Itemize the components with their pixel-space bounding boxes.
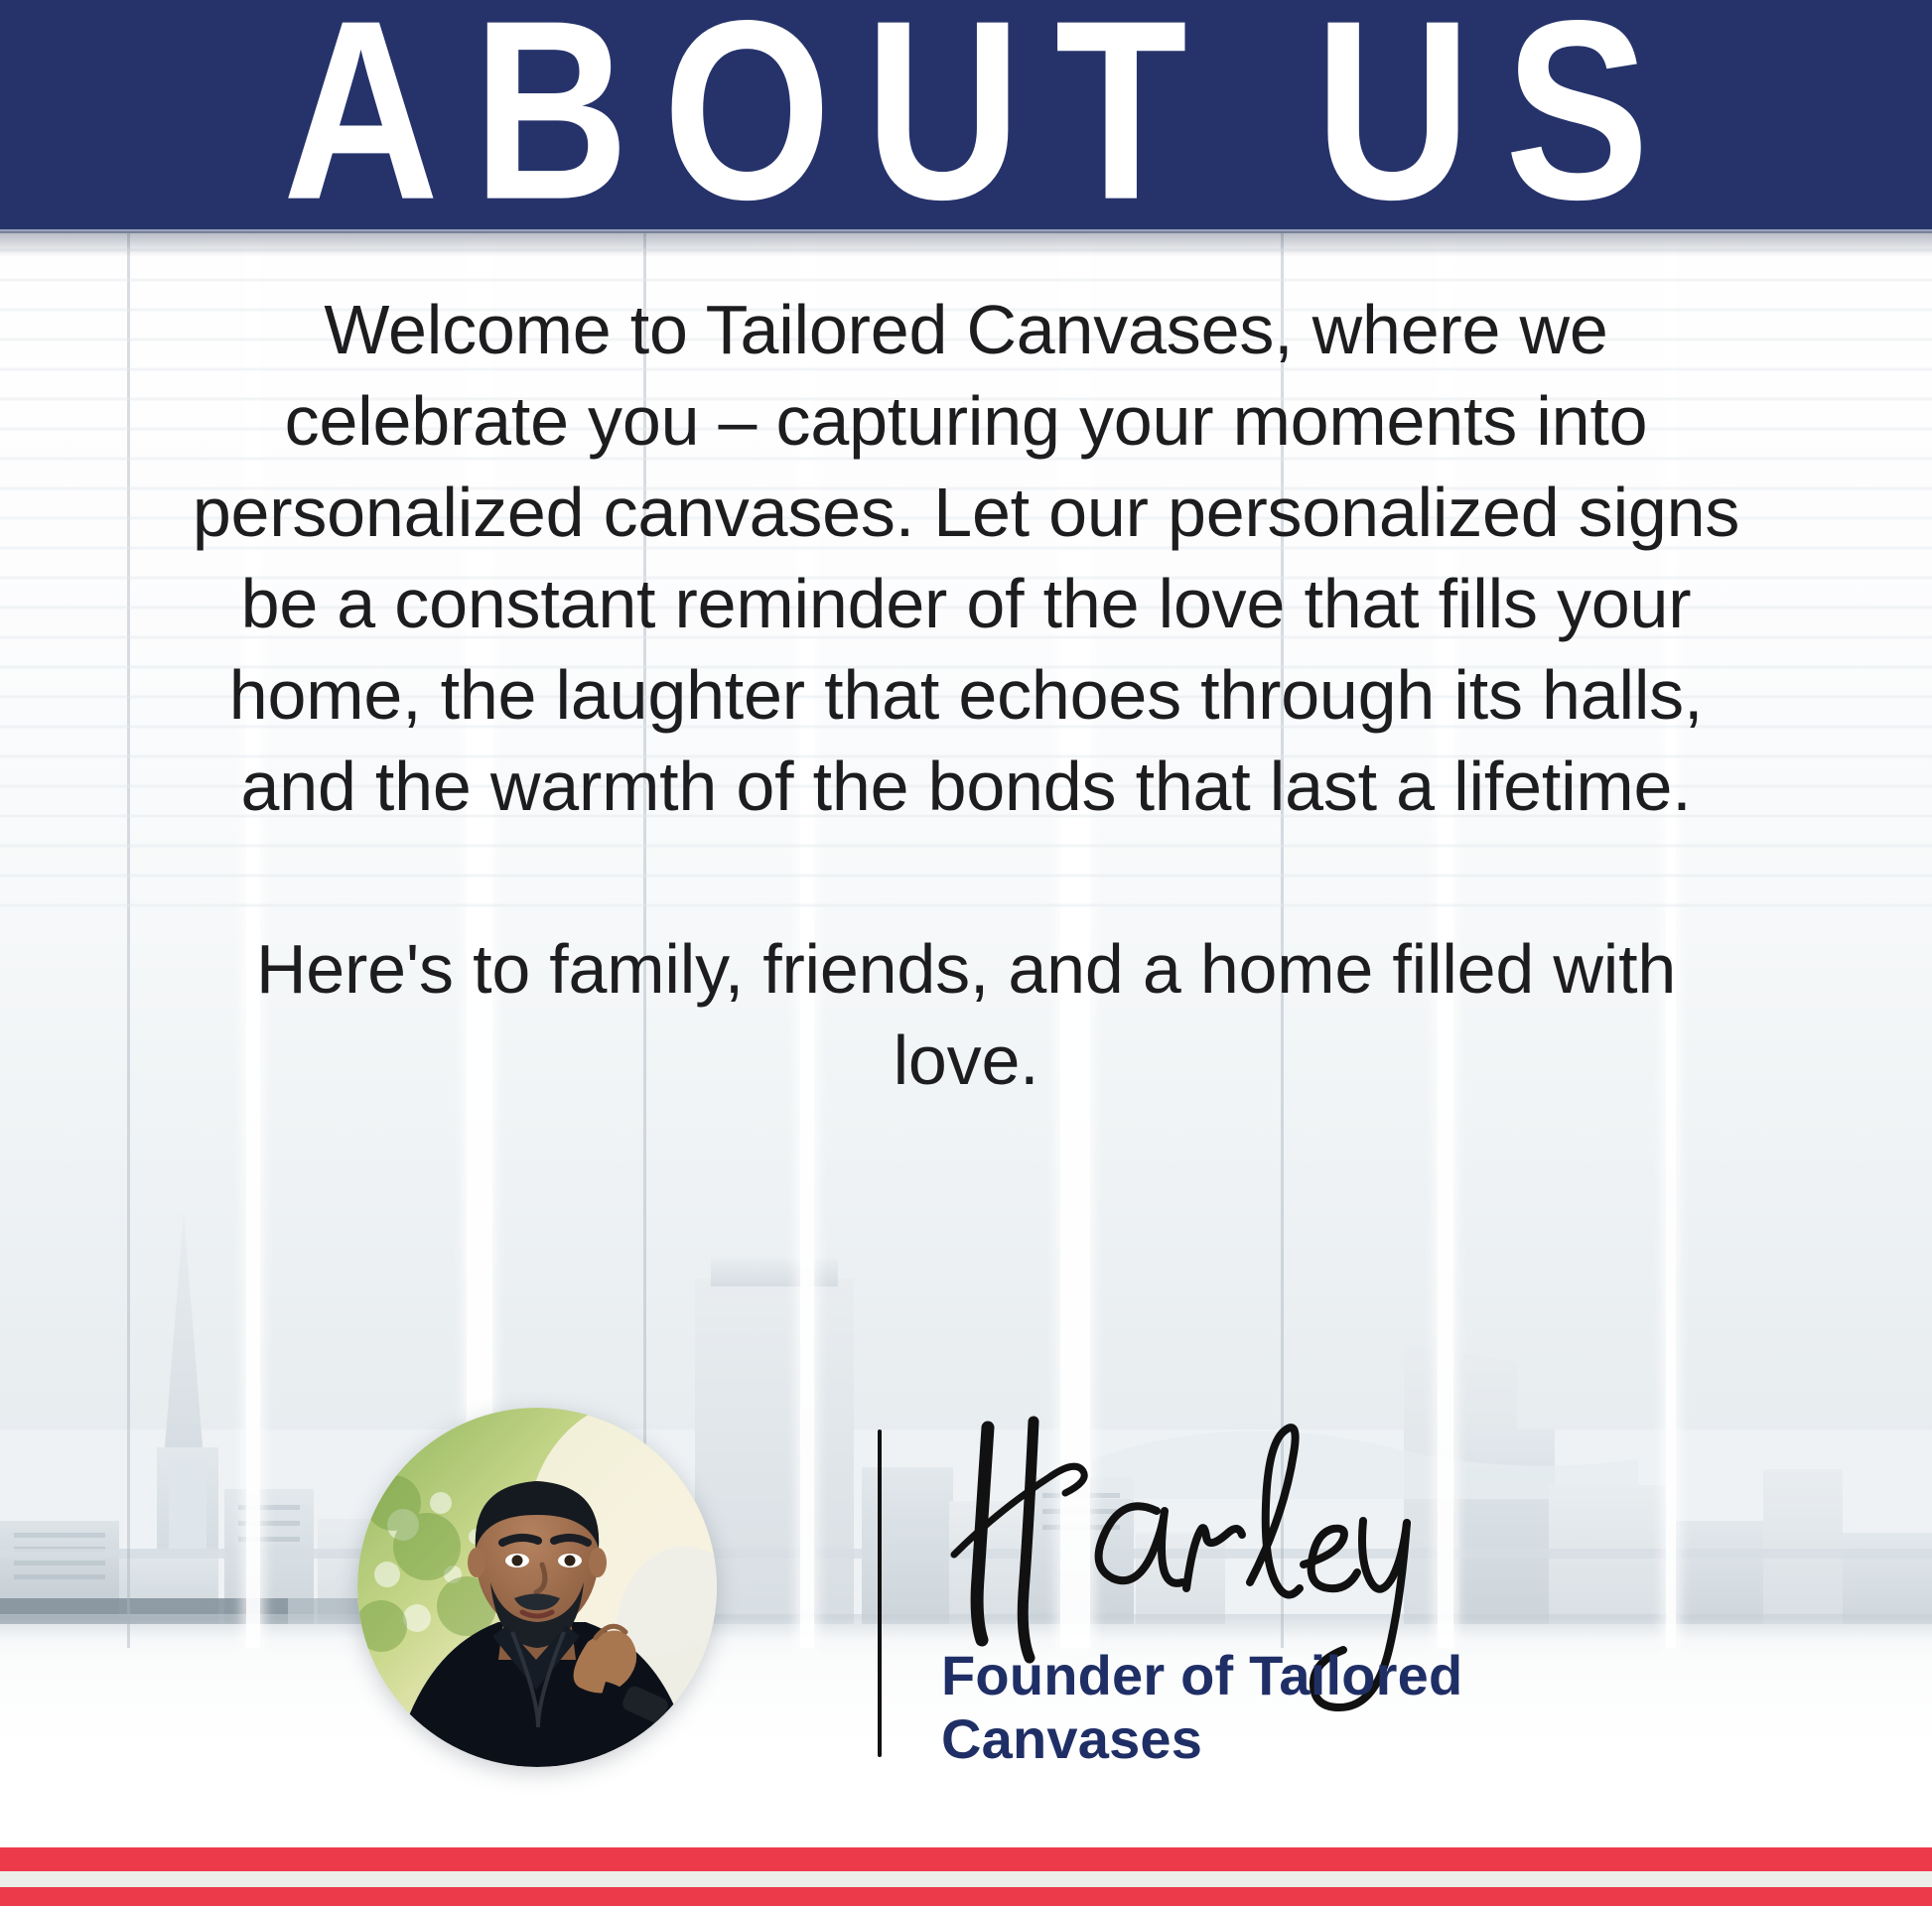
city-skyline: [0, 1132, 1932, 1648]
footer-bar-top: [0, 1847, 1932, 1871]
footer-bar-bottom: [0, 1887, 1932, 1906]
signature-divider: [878, 1429, 882, 1757]
founder-avatar: [357, 1408, 717, 1767]
paragraph-spacer: [189, 832, 1743, 923]
paragraph-closing: Here's to family, friends, and a home fi…: [189, 923, 1743, 1106]
founder-title-line-2: Canvases: [941, 1707, 1676, 1771]
header-banner: ABOUT US: [0, 0, 1932, 231]
footer-bar-gap: [0, 1871, 1932, 1887]
founder-title-line-1: Founder of Tailored: [941, 1644, 1676, 1707]
page-title: ABOUT US: [249, 0, 1683, 231]
about-copy: Welcome to Tailored Canvases, where we c…: [189, 284, 1743, 1106]
window-rail: [0, 1549, 1932, 1559]
avatar-portrait: [357, 1408, 717, 1767]
about-us-poster: ABOUT US Welcome to Tailored Canvases, w…: [0, 0, 1932, 1906]
paragraph-intro: Welcome to Tailored Canvases, where we c…: [189, 284, 1743, 832]
horizon-band: [0, 1614, 1932, 1640]
founder-title: Founder of Tailored Canvases: [941, 1644, 1676, 1771]
header-hairline: [0, 229, 1932, 233]
